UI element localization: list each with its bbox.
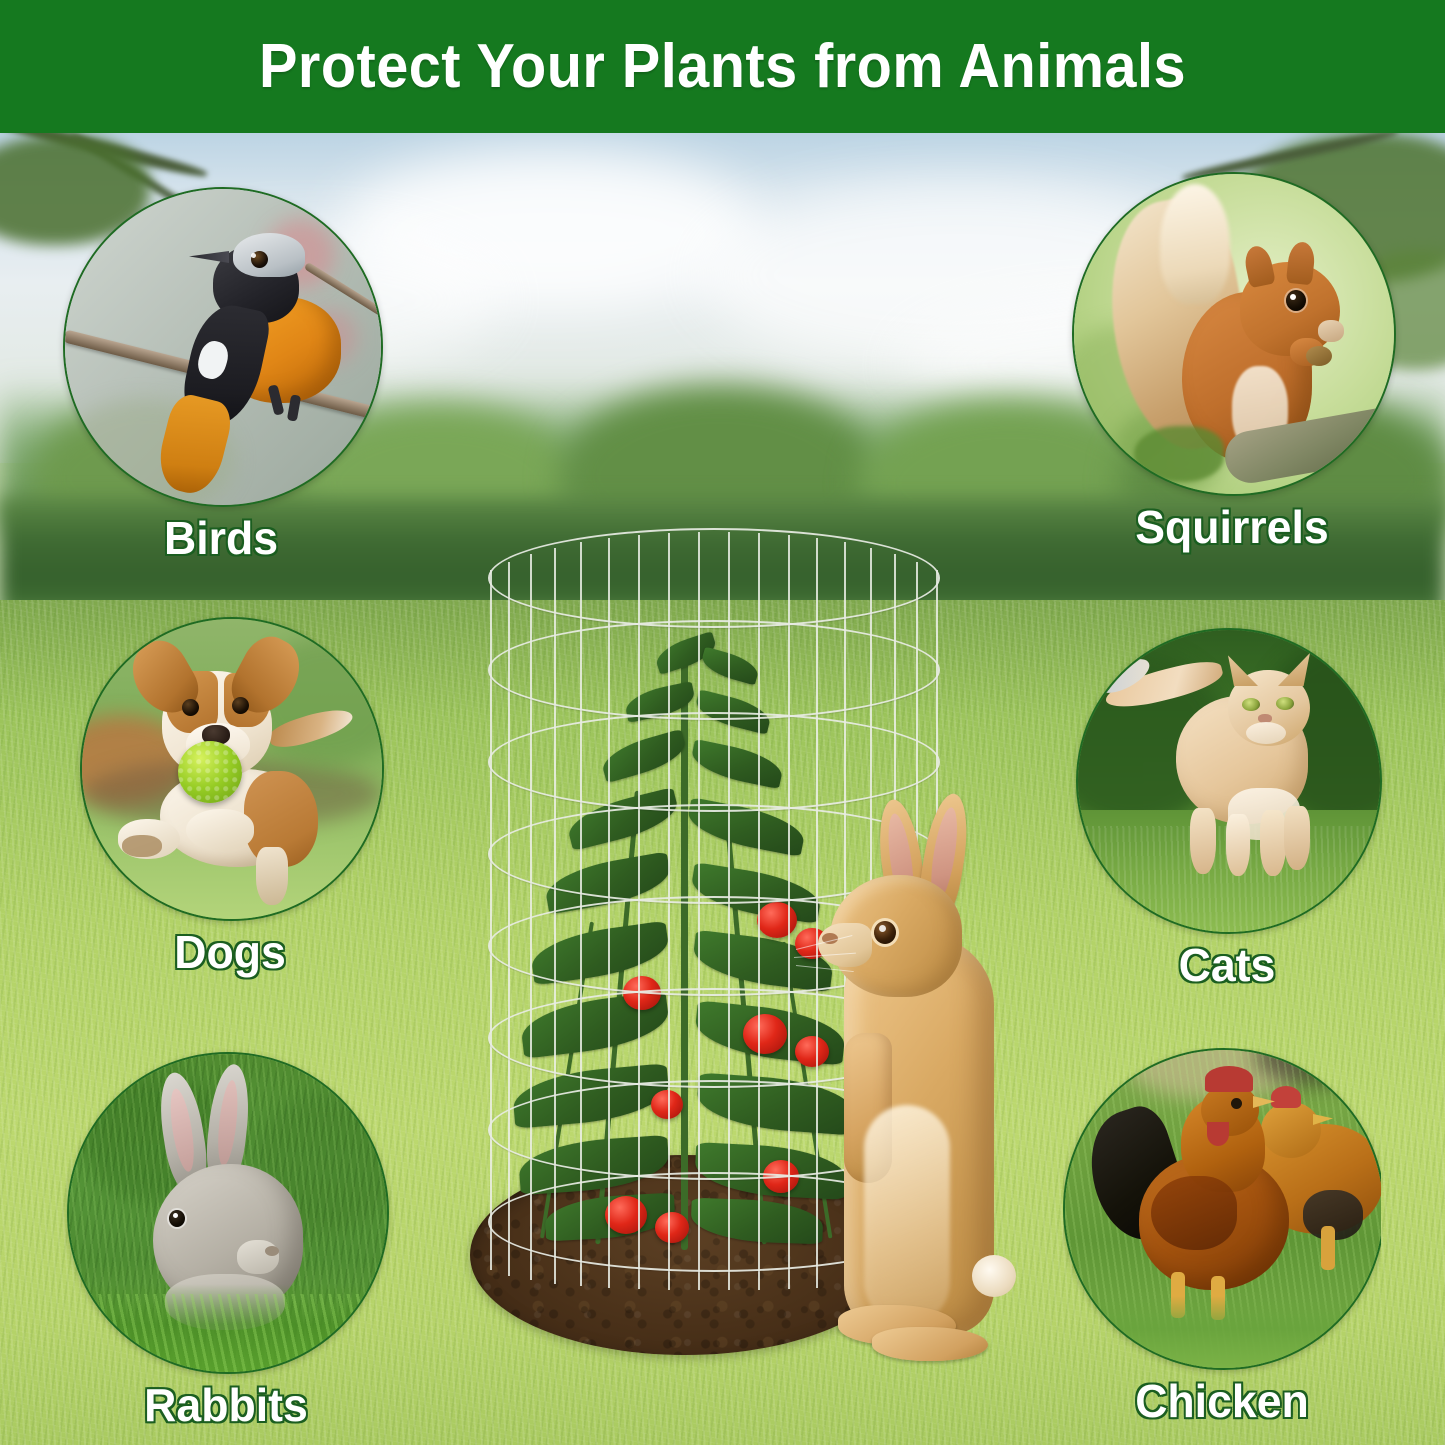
squirrel-muzzle <box>1318 320 1344 342</box>
badge-photo-rabbits <box>67 1052 389 1374</box>
rabbit-muzzle <box>818 923 872 967</box>
cat-leg <box>1284 806 1310 870</box>
rabbit-hind-foot <box>872 1327 988 1361</box>
squirrel-tail-tip <box>1160 184 1230 304</box>
cat-eye <box>1242 698 1260 711</box>
badge-label-rabbits: Rabbits <box>72 1378 380 1432</box>
badge-label-squirrels: Squirrels <box>1077 500 1387 554</box>
rabbit-tail <box>972 1255 1016 1297</box>
badge-cats[interactable]: Cats <box>1076 628 1378 992</box>
badge-dogs[interactable]: Dogs <box>80 617 380 979</box>
cat-leg <box>1226 814 1250 876</box>
cat-muzzle <box>1246 722 1286 744</box>
product-marketing-image: Birds Squirrels <box>0 0 1445 1445</box>
hen-comb <box>1271 1086 1301 1108</box>
badge-photo-squirrels <box>1072 172 1396 496</box>
badge-birds[interactable]: Birds <box>63 187 379 565</box>
badge-photo-dogs <box>80 617 384 921</box>
header-banner: Protect Your Plants from Animals <box>0 0 1445 133</box>
rabbit-nose <box>265 1246 279 1256</box>
rabbit-chest <box>864 1105 950 1325</box>
squirrel-eye <box>1286 290 1306 311</box>
badge-chicken[interactable]: Chicken <box>1063 1048 1381 1428</box>
foreground-rabbit <box>820 805 1040 1365</box>
cat-eye <box>1276 697 1294 710</box>
dog-paw <box>186 809 254 851</box>
rabbit-eye <box>874 921 896 944</box>
bird-crown <box>233 233 305 277</box>
dog-leg <box>256 847 288 905</box>
banner-title: Protect Your Plants from Animals <box>51 0 1395 133</box>
rooster-wing <box>1151 1176 1237 1250</box>
leaves <box>1134 426 1224 482</box>
rooster-eye <box>1231 1098 1242 1109</box>
badge-label-cats: Cats <box>1081 938 1374 992</box>
badge-photo-cats <box>1076 628 1382 934</box>
hen-leg <box>1321 1226 1335 1270</box>
badge-squirrels[interactable]: Squirrels <box>1072 172 1392 554</box>
badge-label-chicken: Chicken <box>1068 1374 1376 1428</box>
badge-photo-chicken <box>1063 1048 1381 1370</box>
nut <box>1306 346 1332 366</box>
rooster-wattle <box>1207 1122 1229 1146</box>
cat-leg <box>1260 810 1286 876</box>
dog-eye <box>232 697 249 714</box>
dog-eye <box>182 699 199 716</box>
cat-leg <box>1190 808 1216 874</box>
badge-photo-birds <box>63 187 383 507</box>
rooster-comb <box>1205 1066 1253 1092</box>
badge-rabbits[interactable]: Rabbits <box>67 1052 385 1432</box>
hen-head <box>1261 1102 1321 1158</box>
badge-label-birds: Birds <box>68 511 375 565</box>
dog-toy-ball <box>178 741 242 803</box>
badge-label-dogs: Dogs <box>85 925 376 979</box>
